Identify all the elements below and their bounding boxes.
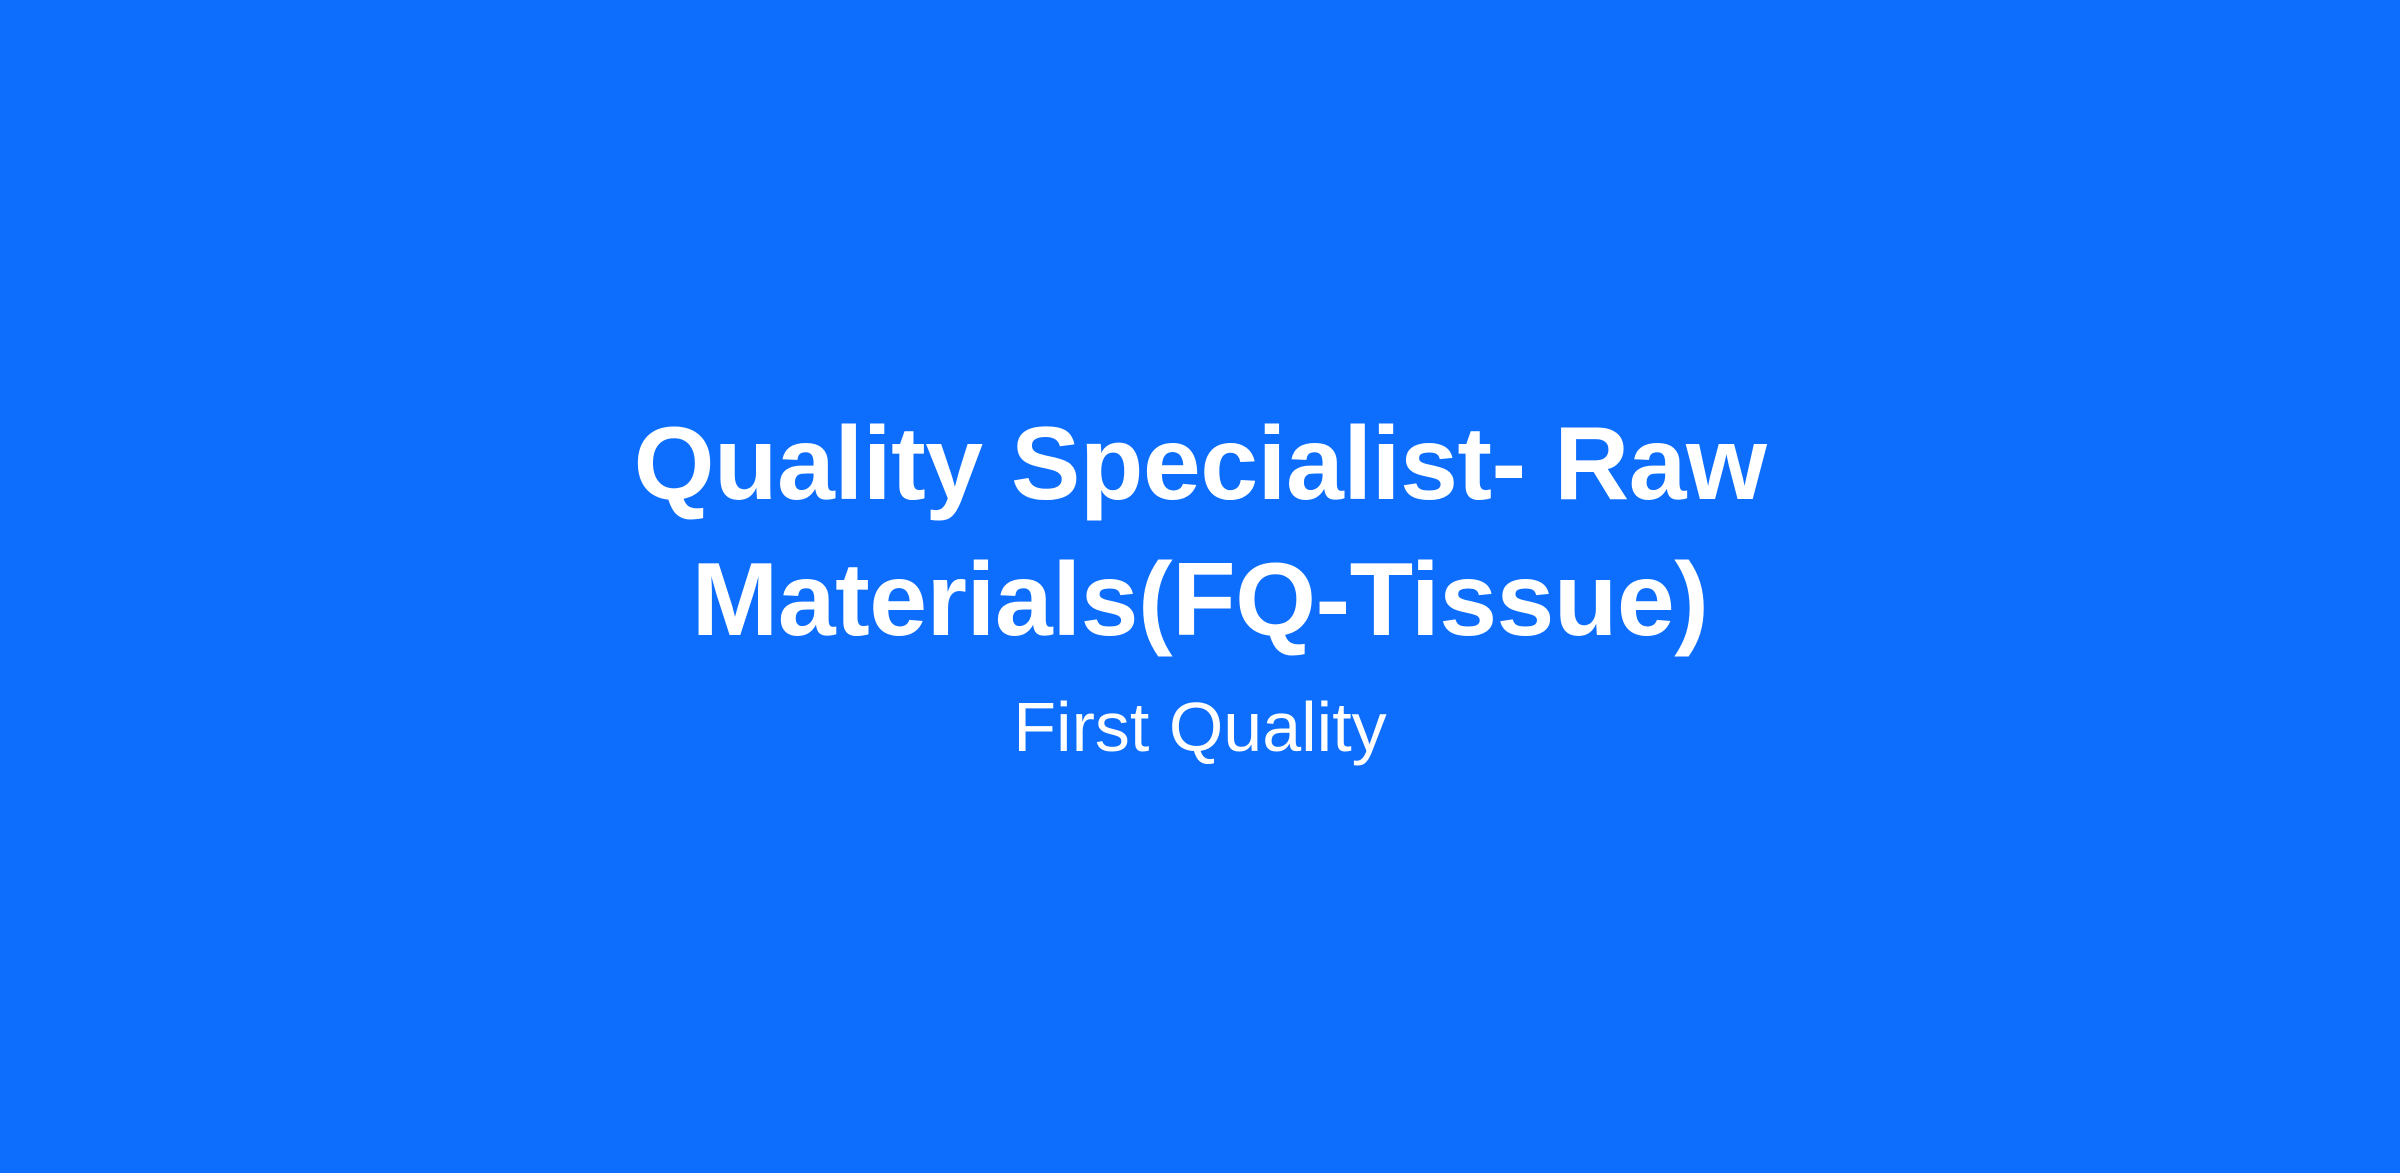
company-name: First Quality [1013, 684, 1386, 772]
job-posting-hero-banner: Quality Specialist- Raw Materials(FQ-Tis… [0, 0, 2400, 1173]
hero-text-block: Quality Specialist- Raw Materials(FQ-Tis… [500, 396, 1900, 772]
page-title: Quality Specialist- Raw Materials(FQ-Tis… [525, 396, 1875, 668]
